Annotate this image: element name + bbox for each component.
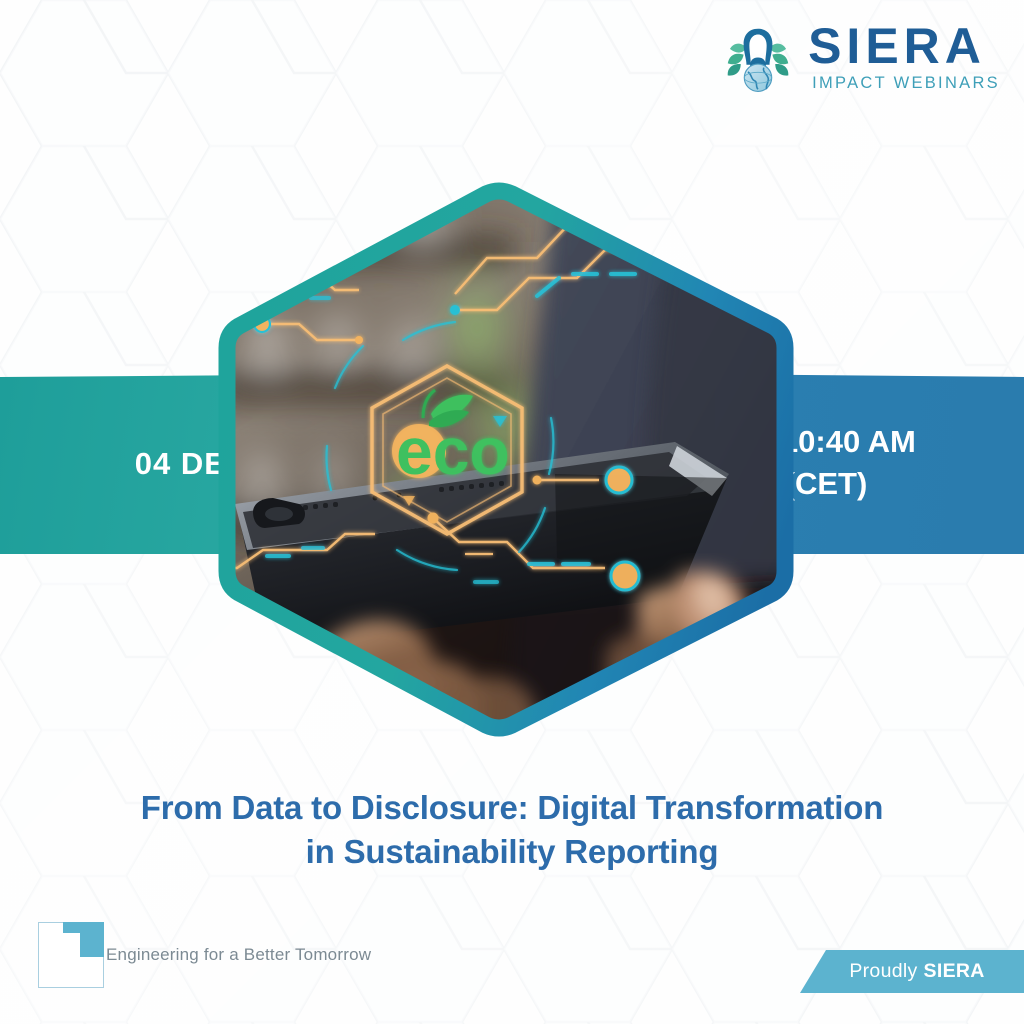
- svg-text:eco: eco: [396, 414, 510, 488]
- hero-hexagon-image: eco: [207, 178, 817, 741]
- title-line-2: in Sustainability Reporting: [80, 830, 944, 874]
- webinar-poster: SIERA IMPACT WEBINARS 04 DEC 10-10:40 AM…: [0, 0, 1024, 1024]
- title-line-1: From Data to Disclosure: Digital Transfo…: [141, 789, 883, 826]
- brand-logo: SIERA IMPACT WEBINARS: [722, 22, 1000, 96]
- footer-tagline: Engineering for a Better Tomorrow: [98, 945, 371, 965]
- brand-wordmark: SIERA IMPACT WEBINARS: [808, 22, 1000, 96]
- status-badge: Proudly SIERA: [800, 950, 1024, 993]
- footer-brand: Engineering for a Better Tomorrow: [38, 922, 371, 988]
- woman-globe-leaves-icon: [722, 23, 794, 95]
- brand-name: SIERA: [808, 22, 1000, 71]
- brand-tagline: IMPACT WEBINARS: [808, 71, 1000, 96]
- square-corner-logo-icon: [38, 922, 104, 988]
- badge-prefix: Proudly: [849, 960, 917, 983]
- badge-brand: SIERA: [924, 960, 985, 983]
- page-title: From Data to Disclosure: Digital Transfo…: [0, 786, 1024, 874]
